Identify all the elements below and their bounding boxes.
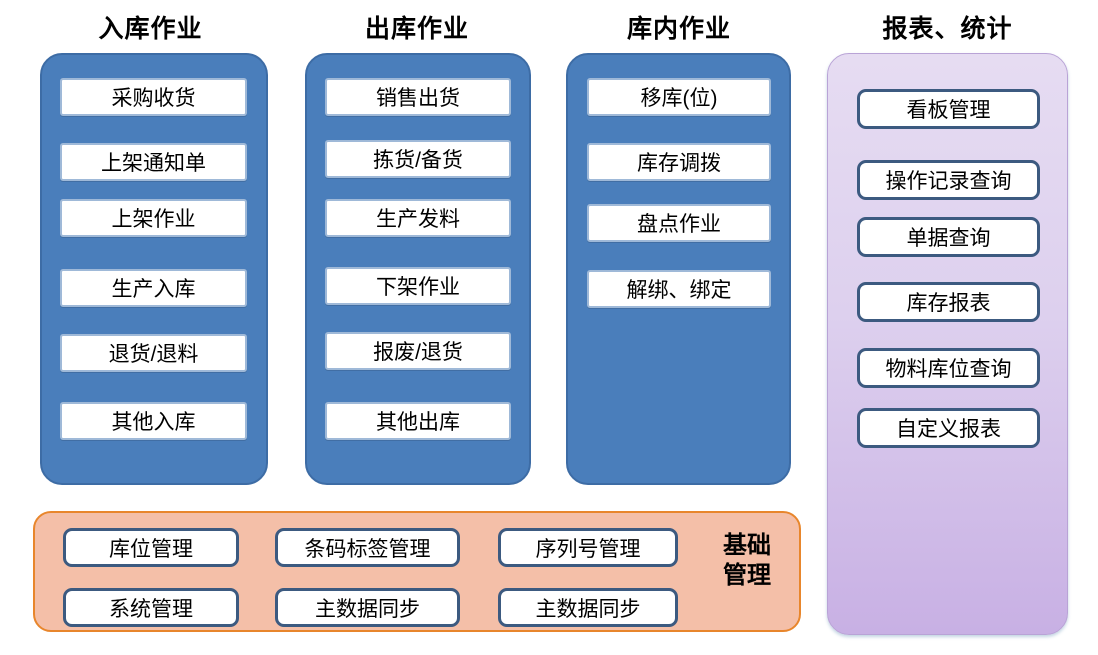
item-outbound-2[interactable]: 生产发料	[325, 199, 511, 237]
item-base-management-0[interactable]: 库位管理	[63, 528, 239, 567]
item-base-management-4[interactable]: 主数据同步	[275, 588, 460, 627]
item-label: 解绑、绑定	[627, 274, 732, 304]
item-reports-5[interactable]: 自定义报表	[857, 408, 1040, 448]
item-label: 采购收货	[112, 82, 196, 112]
item-base-management-2[interactable]: 序列号管理	[498, 528, 678, 567]
item-outbound-1[interactable]: 拣货/备货	[325, 140, 511, 178]
column-title-outbound: 出库作业	[303, 14, 531, 44]
item-inbound-4[interactable]: 退货/退料	[60, 334, 247, 372]
item-base-management-3[interactable]: 系统管理	[63, 588, 239, 627]
item-label: 系统管理	[109, 593, 193, 623]
base-management-label-line2: 管理	[707, 561, 787, 591]
item-label: 退货/退料	[109, 338, 199, 368]
item-label: 库存报表	[907, 287, 991, 317]
column-title-in-warehouse: 库内作业	[565, 14, 793, 44]
item-outbound-4[interactable]: 报废/退货	[325, 332, 511, 370]
item-label: 物料库位查询	[886, 353, 1012, 383]
item-label: 生产入库	[112, 273, 196, 303]
item-base-management-5[interactable]: 主数据同步	[498, 588, 678, 627]
item-reports-4[interactable]: 物料库位查询	[857, 348, 1040, 388]
panel-in-warehouse	[566, 53, 791, 485]
item-label: 条码标签管理	[305, 533, 431, 563]
item-label: 销售出货	[376, 82, 460, 112]
item-label: 下架作业	[376, 271, 460, 301]
item-inbound-2[interactable]: 上架作业	[60, 199, 247, 237]
item-base-management-1[interactable]: 条码标签管理	[275, 528, 460, 567]
column-title-inbound: 入库作业	[33, 14, 268, 44]
item-reports-2[interactable]: 单据查询	[857, 217, 1040, 257]
panel-reports	[827, 53, 1068, 635]
item-reports-3[interactable]: 库存报表	[857, 282, 1040, 322]
item-in-warehouse-0[interactable]: 移库(位)	[587, 78, 771, 116]
item-reports-0[interactable]: 看板管理	[857, 89, 1040, 129]
item-inbound-3[interactable]: 生产入库	[60, 269, 247, 307]
item-outbound-0[interactable]: 销售出货	[325, 78, 511, 116]
item-in-warehouse-1[interactable]: 库存调拨	[587, 143, 771, 181]
item-label: 单据查询	[907, 222, 991, 252]
item-label: 拣货/备货	[373, 144, 463, 174]
item-label: 其他入库	[112, 406, 196, 436]
item-label: 操作记录查询	[886, 165, 1012, 195]
item-label: 看板管理	[907, 94, 991, 124]
item-label: 其他出库	[376, 406, 460, 436]
item-reports-1[interactable]: 操作记录查询	[857, 160, 1040, 200]
item-label: 移库(位)	[641, 82, 718, 112]
diagram-canvas: 入库作业 采购收货 上架通知单 上架作业 生产入库 退货/退料 其他入库 出库作…	[0, 0, 1098, 655]
item-label: 盘点作业	[637, 208, 721, 238]
item-label: 库位管理	[109, 533, 193, 563]
item-label: 自定义报表	[896, 413, 1001, 443]
item-outbound-3[interactable]: 下架作业	[325, 267, 511, 305]
item-label: 主数据同步	[536, 593, 641, 623]
item-inbound-0[interactable]: 采购收货	[60, 78, 247, 116]
item-label: 上架作业	[112, 203, 196, 233]
item-in-warehouse-2[interactable]: 盘点作业	[587, 204, 771, 242]
item-label: 报废/退货	[373, 336, 463, 366]
item-inbound-5[interactable]: 其他入库	[60, 402, 247, 440]
base-management-label: 基础 管理	[707, 531, 787, 591]
item-inbound-1[interactable]: 上架通知单	[60, 143, 247, 181]
item-label: 序列号管理	[536, 533, 641, 563]
item-in-warehouse-3[interactable]: 解绑、绑定	[587, 270, 771, 308]
base-management-label-line1: 基础	[707, 531, 787, 561]
item-outbound-5[interactable]: 其他出库	[325, 402, 511, 440]
item-label: 库存调拨	[637, 147, 721, 177]
item-label: 上架通知单	[101, 147, 206, 177]
item-label: 主数据同步	[315, 593, 420, 623]
column-title-reports: 报表、统计	[827, 14, 1068, 44]
item-label: 生产发料	[376, 203, 460, 233]
